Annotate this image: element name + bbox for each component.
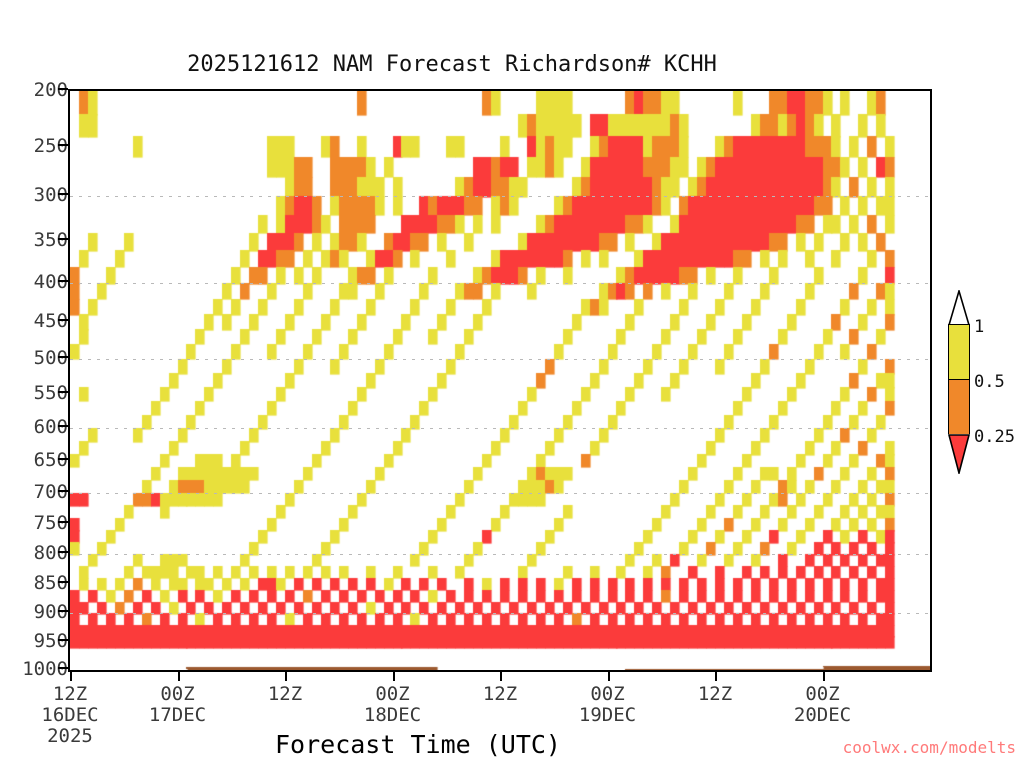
x-tick-label: 00Z19DEC — [579, 684, 636, 726]
x-tick-mark — [70, 672, 72, 681]
y-tick-label: 850 — [10, 572, 68, 594]
x-tick-date: 17DEC — [149, 705, 206, 726]
colorbar-lower-arrow — [948, 434, 970, 474]
x-tick-label: 00Z20DEC — [794, 684, 851, 726]
y-tick-label: 650 — [10, 449, 68, 471]
x-tick-label: 12Z — [268, 684, 302, 705]
x-tick-time: 00Z — [149, 684, 206, 705]
y-tick-label: 550 — [10, 382, 68, 404]
y-tick-mark — [58, 193, 68, 195]
x-tick-mark — [823, 672, 825, 681]
x-tick-mark — [500, 672, 502, 681]
x-tick-mark — [178, 672, 180, 681]
x-axis-title: Forecast Time (UTC) — [68, 730, 768, 759]
x-tick-label: 12Z — [483, 684, 517, 705]
colorbar-segment — [949, 379, 969, 434]
x-tick-time: 12Z — [698, 684, 732, 705]
y-tick-label: 350 — [10, 229, 68, 251]
heatmap-canvas[interactable] — [70, 91, 930, 670]
x-tick-time: 00Z — [579, 684, 636, 705]
x-tick-label: 12Z — [698, 684, 732, 705]
x-tick-mark — [393, 672, 395, 681]
x-tick-date: 19DEC — [579, 705, 636, 726]
y-tick-mark — [58, 610, 68, 612]
y-axis: 2002503003504004505005506006507007508008… — [0, 89, 68, 672]
y-tick-label: 450 — [10, 310, 68, 332]
colorbar-segment — [949, 325, 969, 379]
y-tick-label: 250 — [10, 135, 68, 157]
y-tick-label: 600 — [10, 416, 68, 438]
x-tick-label: 00Z17DEC — [149, 684, 206, 726]
y-tick-mark — [58, 280, 68, 282]
y-tick-label: 200 — [10, 79, 68, 101]
x-tick-mark — [285, 672, 287, 681]
x-tick-mark — [715, 672, 717, 681]
x-tick-date: 16DEC — [41, 705, 98, 726]
y-tick-mark — [58, 356, 68, 358]
y-tick-mark — [58, 581, 68, 583]
x-tick-time: 00Z — [794, 684, 851, 705]
y-tick-label: 800 — [10, 542, 68, 564]
x-tick-time: 12Z — [483, 684, 517, 705]
y-tick-mark — [58, 458, 68, 460]
y-tick-mark — [58, 521, 68, 523]
y-tick-label: 500 — [10, 347, 68, 369]
colorbar-legend: 10.50.25 — [944, 288, 1024, 478]
colorbar-tick-label: 0.25 — [974, 427, 1015, 447]
x-tick-date: 18DEC — [364, 705, 421, 726]
x-tick-date: 20DEC — [794, 705, 851, 726]
y-tick-mark — [58, 490, 68, 492]
x-tick-label: 00Z18DEC — [364, 684, 421, 726]
y-tick-mark — [58, 639, 68, 641]
y-tick-mark — [58, 88, 68, 90]
gridline — [70, 670, 930, 671]
watermark: coolwx.com/modelts — [843, 738, 1016, 757]
x-tick-time: 12Z — [41, 684, 98, 705]
y-tick-mark — [58, 238, 68, 240]
x-tick-time: 12Z — [268, 684, 302, 705]
colorbar-tick-label: 0.5 — [974, 372, 1005, 392]
colorbar-tick-label: 1 — [974, 317, 984, 337]
y-tick-mark — [58, 144, 68, 146]
y-tick-label: 300 — [10, 184, 68, 206]
y-tick-label: 750 — [10, 512, 68, 534]
y-tick-mark — [58, 667, 68, 669]
y-tick-label: 950 — [10, 630, 68, 652]
plot-area — [68, 89, 932, 672]
y-tick-label: 700 — [10, 481, 68, 503]
colorbar-upper-arrow — [948, 290, 970, 326]
colorbar-body — [948, 324, 970, 434]
chart-page: 2025121612 NAM Forecast Richardson# KCHH… — [0, 0, 1024, 768]
page-title: 2025121612 NAM Forecast Richardson# KCHH — [0, 52, 1024, 77]
y-tick-mark — [58, 391, 68, 393]
y-tick-mark — [58, 319, 68, 321]
x-tick-time: 00Z — [364, 684, 421, 705]
y-tick-mark — [58, 551, 68, 553]
y-tick-mark — [58, 425, 68, 427]
y-tick-label: 400 — [10, 271, 68, 293]
x-tick-mark — [608, 672, 610, 681]
y-tick-label: 1000 — [10, 658, 68, 680]
y-tick-label: 900 — [10, 601, 68, 623]
